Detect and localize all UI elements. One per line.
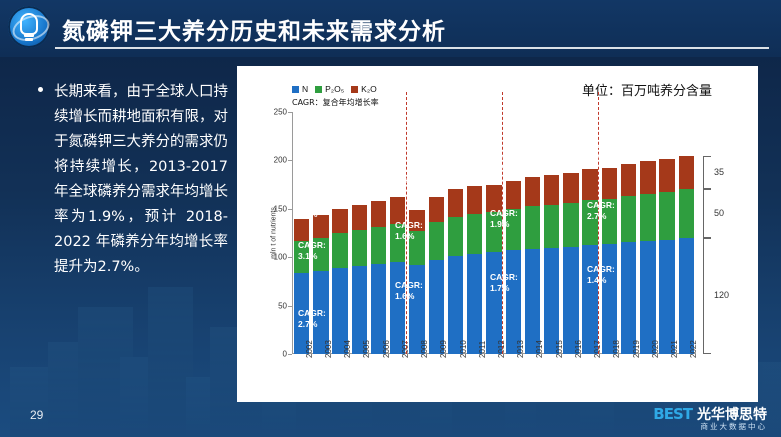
legend-swatch-icon <box>292 86 299 93</box>
period-divider <box>598 92 599 354</box>
cagr-value: 1.4% <box>587 275 615 286</box>
cagr-value: 1.9% <box>490 219 518 230</box>
bar-segment-p2o5 <box>352 230 367 266</box>
brand-logo: BEST 光华博思特 商业大数据中心 <box>653 404 767 424</box>
cagr-annotation: CAGR:2.9% <box>490 152 518 173</box>
legend-swatch-icon <box>351 86 358 93</box>
cagr-label: CAGR: <box>587 140 615 151</box>
lightbulb-circle-icon <box>8 6 50 48</box>
unit-note: 单位：百万吨养分含量 <box>582 80 712 99</box>
y-axis-tick-mark <box>288 306 292 307</box>
y-axis-label: mln t of nutrients <box>270 207 277 259</box>
end-label-p2o5: 50 <box>714 208 724 218</box>
cagr-label: CAGR: <box>298 198 326 209</box>
cagr-label: CAGR: <box>490 152 518 163</box>
cagr-label: CAGR: <box>395 280 423 291</box>
bar-segment-n <box>602 244 617 354</box>
brand-mark: BEST <box>653 405 692 423</box>
cagr-value: 1.7% <box>490 283 518 294</box>
cagr-label: CAGR: <box>395 164 423 175</box>
bracket-icon <box>703 156 711 190</box>
bar-segment-n <box>506 250 521 354</box>
bar-column <box>679 156 694 354</box>
bar-column <box>640 161 655 354</box>
cagr-value: 2.9% <box>298 209 326 220</box>
cagr-value: 2.8% <box>587 151 615 162</box>
bar-segment-p2o5 <box>429 222 444 260</box>
bar-column <box>371 201 386 354</box>
bracket-icon <box>703 189 711 237</box>
y-axis-tick-label: 250 <box>274 108 287 117</box>
bar-segment-p2o5 <box>621 196 636 241</box>
cagr-annotation: CAGR:0.2% <box>395 164 423 185</box>
bar-segment-k2o <box>506 181 521 209</box>
brand-subtitle: 商业大数据中心 <box>701 421 768 432</box>
y-axis-tick-mark <box>288 257 292 258</box>
bar-segment-p2o5 <box>659 192 674 239</box>
bar-segment-k2o <box>659 159 674 192</box>
bar-segment-p2o5 <box>640 194 655 240</box>
page-title: 氮磷钾三大养分历史和未来需求分析 <box>62 12 446 46</box>
bar-segment-k2o <box>429 197 444 222</box>
cagr-label: CAGR: <box>490 208 518 219</box>
legend-label: N <box>302 84 308 94</box>
cagr-label: CAGR: <box>490 272 518 283</box>
y-axis-tick-mark <box>288 160 292 161</box>
bar-column <box>294 218 309 354</box>
bar-segment-n <box>563 247 578 354</box>
cagr-label: CAGR: <box>395 220 423 231</box>
cagr-value: 0.2% <box>395 175 423 186</box>
end-label-n: 120 <box>714 290 729 300</box>
y-axis-tick-mark <box>288 112 292 113</box>
y-axis-line <box>292 112 293 354</box>
bar-segment-k2o <box>544 175 559 205</box>
bar-segment-k2o <box>582 169 597 200</box>
bar-segment-k2o <box>352 205 367 230</box>
bar-column <box>525 177 540 354</box>
bar-segment-k2o <box>371 201 386 227</box>
bar-segment-p2o5 <box>467 214 482 255</box>
bar-segment-k2o <box>332 209 347 233</box>
bullet-paragraph: 长期来看，由于全球人口持续增长而耕地面积有限，对于氮磷钾三大养分的需求仍将持续增… <box>38 80 228 280</box>
bar-segment-n <box>640 241 655 354</box>
bar-column <box>332 209 347 354</box>
y-axis-tick-label: 100 <box>274 253 287 262</box>
legend-label: K₂O <box>361 84 377 94</box>
cagr-annotation: CAGR:1.6% <box>395 220 423 241</box>
cagr-annotation: CAGR:3.1% <box>298 240 326 261</box>
bar-column <box>313 215 328 354</box>
bar-column <box>563 173 578 354</box>
bracket-icon <box>703 238 711 354</box>
bullet-text: 长期来看，由于全球人口持续增长而耕地面积有限，对于氮磷钾三大养分的需求仍将持续增… <box>54 80 228 280</box>
bar-segment-n <box>467 254 482 354</box>
bar-segment-k2o <box>294 219 309 241</box>
bar-segment-k2o <box>525 177 540 206</box>
y-axis-tick-label: 50 <box>278 301 287 310</box>
bar-segment-n <box>544 248 559 354</box>
bar-column <box>582 169 597 354</box>
legend-swatch-icon <box>315 86 322 93</box>
legend-item-k2o: K₂O <box>351 84 377 94</box>
cagr-label: CAGR: <box>298 240 326 251</box>
bar-segment-p2o5 <box>371 227 386 264</box>
bar-segment-n <box>659 240 674 354</box>
cagr-annotation: CAGR:1.7% <box>490 272 518 293</box>
plot-area: mln t of nutrients 050100150200250200220… <box>292 112 696 354</box>
cagr-value: 3.1% <box>298 251 326 262</box>
bar-segment-n <box>621 242 636 354</box>
bar-segment-k2o <box>621 164 636 196</box>
bar-segment-k2o <box>448 189 463 216</box>
cagr-value: 2.9% <box>490 163 518 174</box>
bar-segment-k2o <box>563 173 578 203</box>
bar-segment-n <box>525 249 540 355</box>
y-axis-tick-label: 0 <box>283 350 287 359</box>
end-label-k2o: 35 <box>714 167 724 177</box>
y-axis-tick-mark <box>288 354 292 355</box>
title-underline <box>55 47 769 49</box>
bar-segment-k2o <box>602 168 617 199</box>
bar-segment-p2o5 <box>332 233 347 268</box>
bar-segment-p2o5 <box>525 206 540 249</box>
bar-column <box>352 205 367 354</box>
cagr-annotation: CAGR:1.6% <box>395 280 423 301</box>
cagr-footnote: CAGR：复合年均增长率 <box>292 97 379 108</box>
bar-segment-n <box>486 252 501 354</box>
chart-panel: 单位：百万吨养分含量 NP₂O₅K₂O CAGR：复合年均增长率 mln t o… <box>237 66 758 402</box>
slide-header: 氮磷钾三大养分历史和未来需求分析 <box>0 0 781 57</box>
page-number: 29 <box>30 408 43 422</box>
bar-segment-n <box>679 238 694 354</box>
cagr-annotation: CAGR:2.8% <box>587 140 615 161</box>
legend-item-p2o5: P₂O₅ <box>315 84 344 94</box>
cagr-label: CAGR: <box>298 308 326 319</box>
bar-column <box>429 197 444 354</box>
bar-segment-k2o <box>679 156 694 190</box>
bar-column <box>659 159 674 354</box>
cagr-value: 1.6% <box>395 291 423 302</box>
bar-column <box>506 181 521 354</box>
bar-segment-p2o5 <box>448 217 463 257</box>
bar-column <box>621 164 636 354</box>
cagr-annotation: CAGR:1.9% <box>490 208 518 229</box>
cagr-value: 2.7% <box>298 319 326 330</box>
bar-segment-k2o <box>467 186 482 214</box>
cagr-label: CAGR: <box>587 200 615 211</box>
bar-segment-k2o <box>640 161 655 194</box>
cagr-label: CAGR: <box>587 264 615 275</box>
legend-item-n: N <box>292 84 308 94</box>
bar-column <box>602 168 617 354</box>
bullet-marker <box>38 87 43 92</box>
bar-segment-n <box>582 245 597 354</box>
cagr-value: 2.7% <box>587 211 615 222</box>
slide-root: 氮磷钾三大养分历史和未来需求分析 长期来看，由于全球人口持续增长而耕地面积有限，… <box>0 0 781 437</box>
cagr-annotation: CAGR:2.9% <box>298 198 326 219</box>
x-axis-tick-label: 2022 <box>689 340 698 358</box>
cagr-value: 1.6% <box>395 231 423 242</box>
bar-segment-p2o5 <box>544 205 559 248</box>
chart-legend: NP₂O₅K₂O <box>292 84 377 94</box>
bar-segment-p2o5 <box>679 189 694 237</box>
y-axis-tick-mark <box>288 209 292 210</box>
cagr-annotation: CAGR:2.7% <box>298 308 326 329</box>
cagr-annotation: CAGR:1.4% <box>587 264 615 285</box>
bar-column <box>544 175 559 354</box>
bar-segment-p2o5 <box>563 203 578 247</box>
bar-column <box>448 189 463 354</box>
legend-label: P₂O₅ <box>325 84 344 94</box>
y-axis-tick-label: 150 <box>274 204 287 213</box>
cagr-annotation: CAGR:2.7% <box>587 200 615 221</box>
bar-column <box>467 186 482 354</box>
y-axis-tick-label: 200 <box>274 156 287 165</box>
